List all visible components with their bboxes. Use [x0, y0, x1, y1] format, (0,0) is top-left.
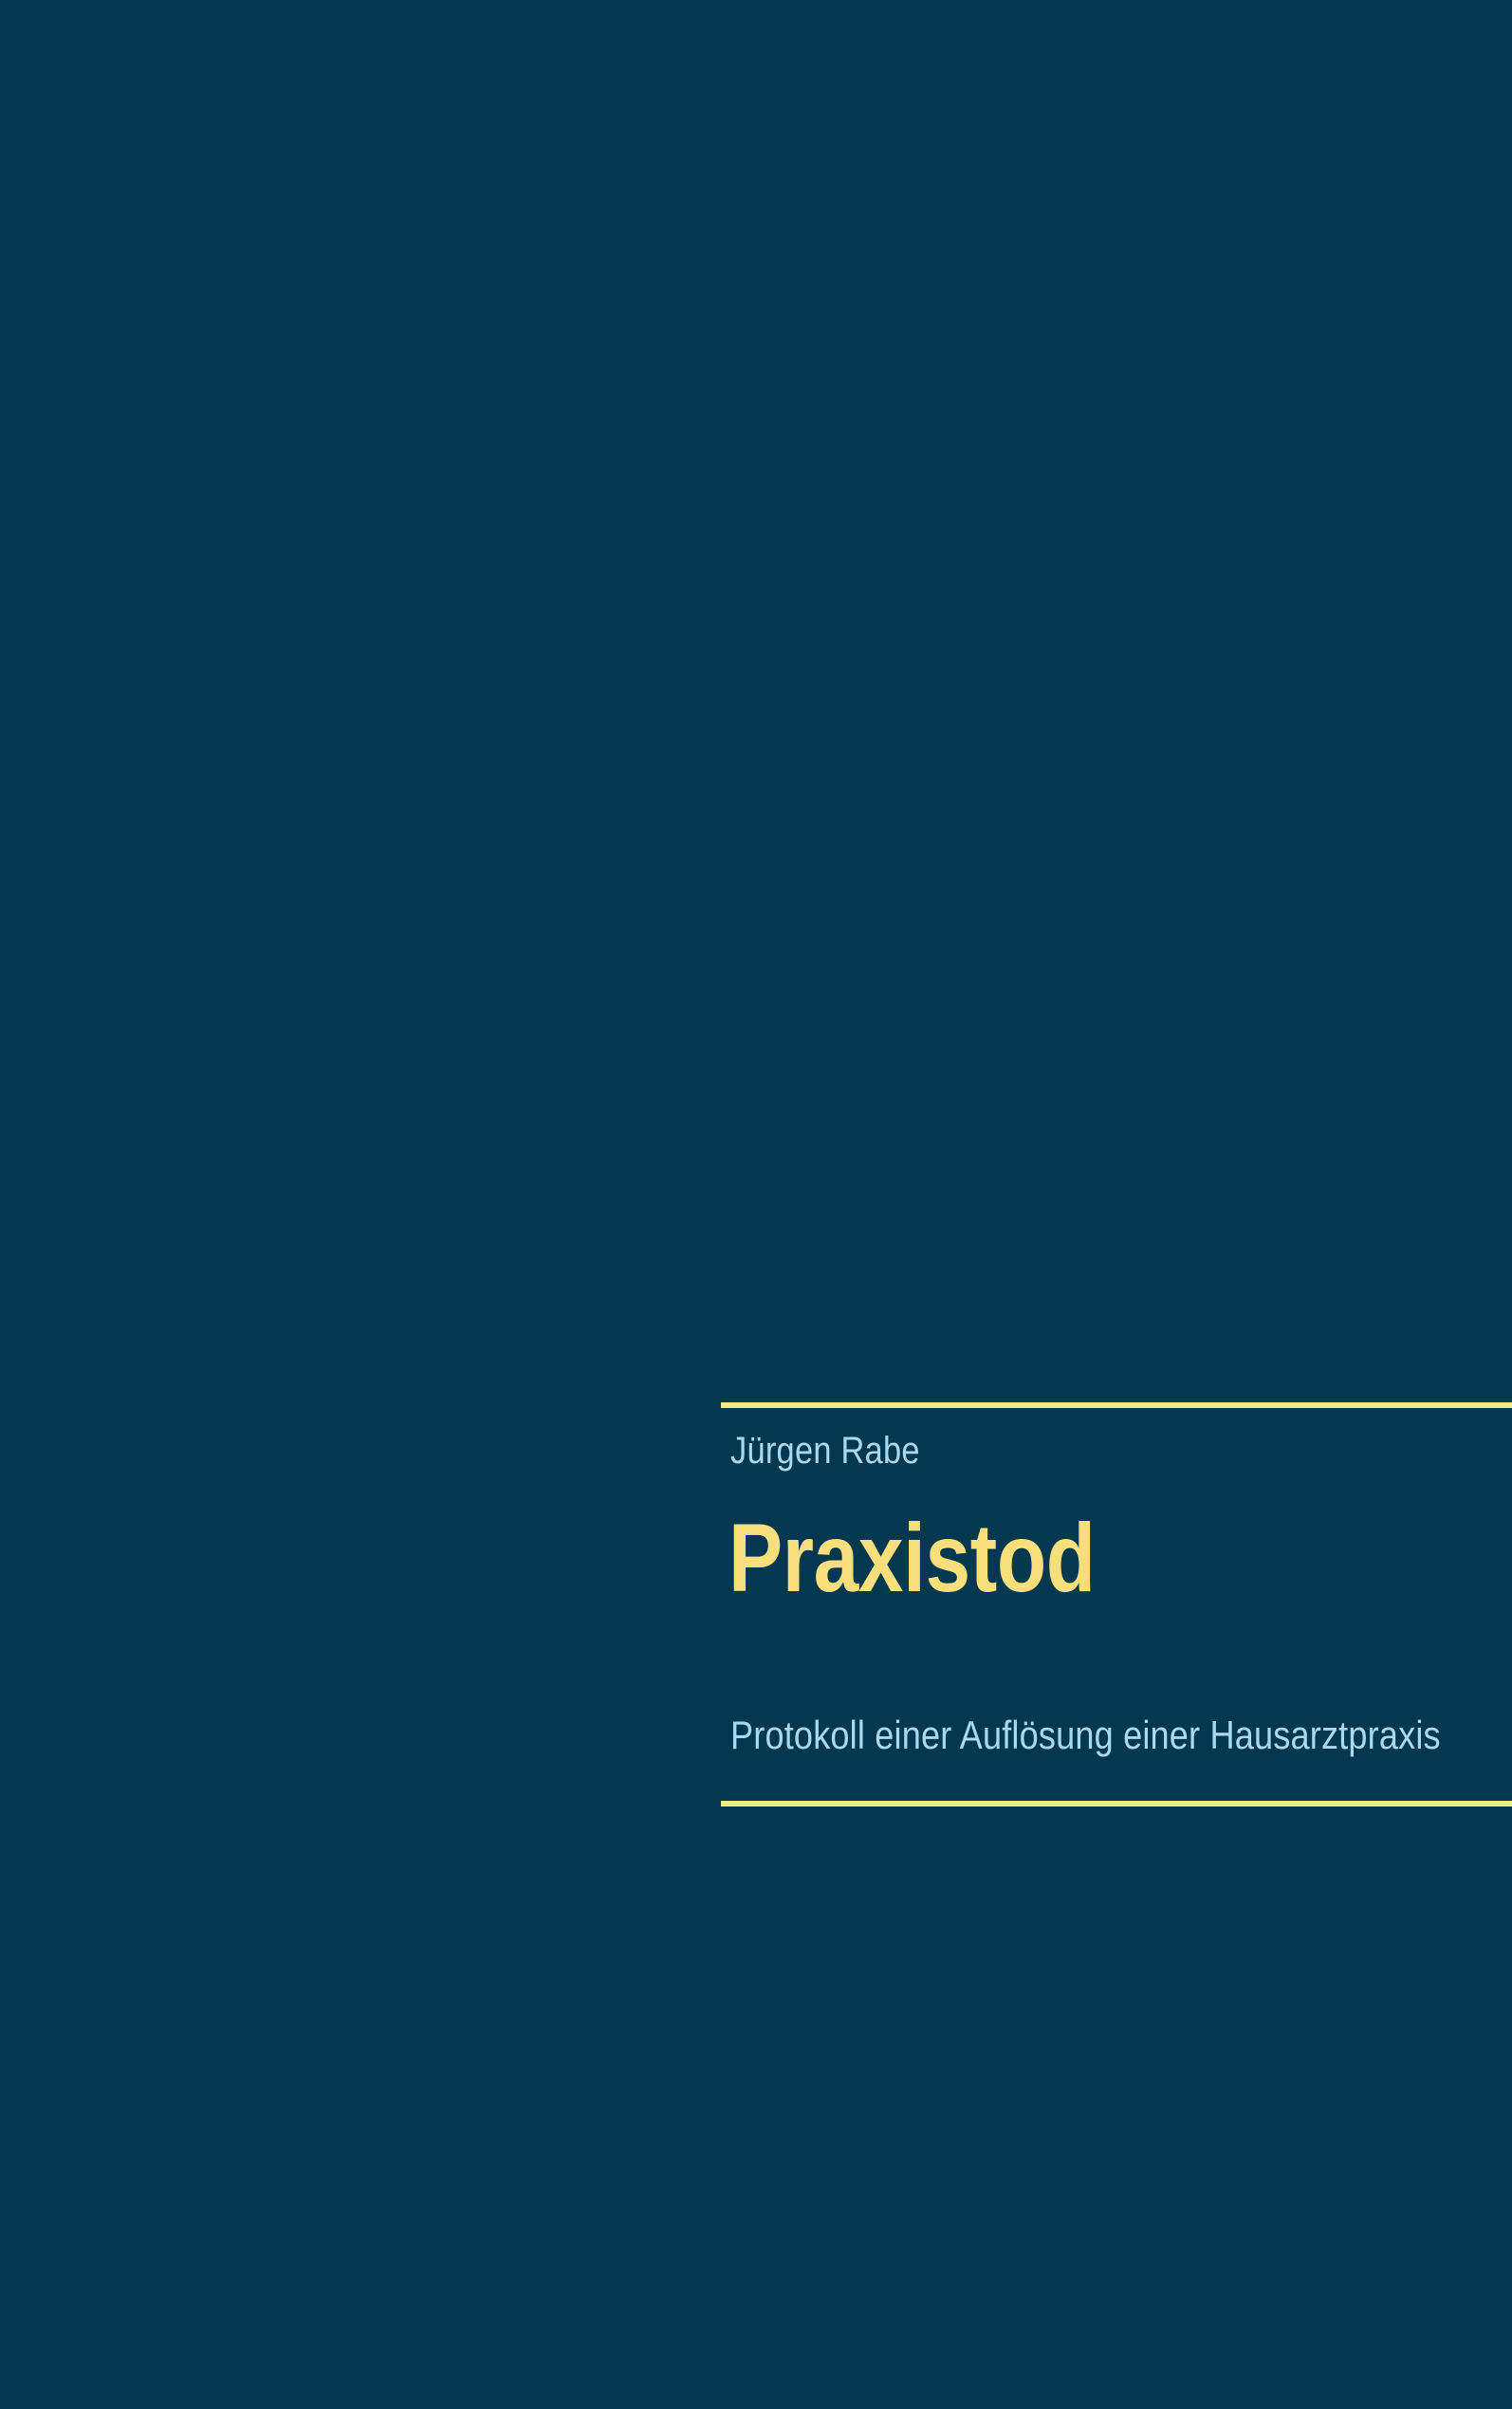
bottom-divider-rule [721, 1801, 1512, 1807]
cover-text-block: Jürgen Rabe Praxistod Protokoll einer Au… [721, 1402, 1512, 1807]
top-divider-rule [721, 1402, 1512, 1408]
book-title: Praxistod [728, 1509, 1387, 1607]
book-subtitle: Protokoll einer Auflösung einer Hausarzt… [730, 1714, 1403, 1757]
book-cover: Jürgen Rabe Praxistod Protokoll einer Au… [0, 0, 1512, 2409]
author-name: Jürgen Rabe [730, 1431, 1403, 1471]
